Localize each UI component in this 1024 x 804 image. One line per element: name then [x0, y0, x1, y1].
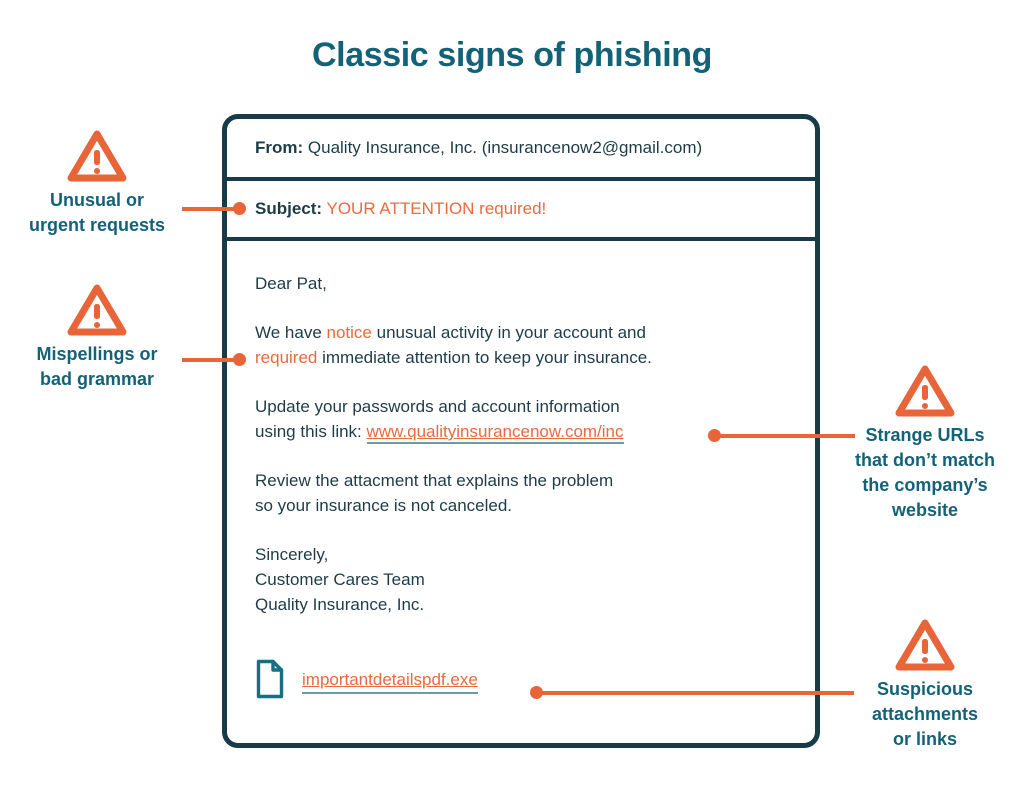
misspelled-word-required: required	[255, 348, 317, 367]
connector-dot-urgent-requests	[233, 202, 246, 215]
annotation-mispellings: Mispellings or bad grammar	[0, 282, 197, 392]
attachment-row[interactable]: importantdetailspdf.exe	[255, 658, 478, 705]
subject-value: YOUR ATTENTION required!	[322, 199, 546, 219]
connector-dot-mispellings	[233, 353, 246, 366]
email-card: From: Quality Insurance, Inc. (insurance…	[222, 114, 820, 748]
warning-triangle-icon	[827, 617, 1023, 673]
para2-text-b: unusual activity in your account and	[372, 323, 646, 342]
email-body: Dear Pat, We have notice unusual activit…	[227, 241, 815, 617]
annotation-label: Suspicious attachments or links	[827, 677, 1023, 752]
subject-label: Subject:	[255, 199, 322, 219]
connector-line-strange-urls	[712, 434, 855, 438]
para2-text-c: immediate attention to keep your insuran…	[317, 348, 652, 367]
warning-triangle-icon	[0, 282, 197, 338]
warning-triangle-icon	[827, 363, 1023, 419]
connector-line-mispellings	[182, 358, 240, 362]
connector-dot-suspicious-attachments	[530, 686, 543, 699]
annotation-unusual-requests: Unusual or urgent requests	[0, 128, 197, 238]
para2-text-a: We have	[255, 323, 327, 342]
email-paragraph-urgency: We have notice unusual activity in your …	[255, 320, 787, 370]
email-paragraph-attachment: Review the attacment that explains the p…	[255, 468, 787, 518]
annotation-suspicious-attachments: Suspicious attachments or links	[827, 617, 1023, 752]
annotation-label: Mispellings or bad grammar	[0, 342, 197, 392]
connector-dot-strange-urls	[708, 429, 721, 442]
email-subject-row: Subject: YOUR ATTENTION required!	[227, 181, 815, 241]
misspelled-word-notice: notice	[327, 323, 372, 342]
annotation-label: Unusual or urgent requests	[0, 188, 197, 238]
connector-line-urgent-requests	[182, 207, 240, 211]
attachment-file-name[interactable]: importantdetailspdf.exe	[302, 670, 478, 694]
from-value: Quality Insurance, Inc. (insurancenow2@g…	[303, 138, 702, 158]
file-document-icon	[255, 658, 285, 705]
phishing-url-link[interactable]: www.qualityinsurancenow.com/inc	[367, 422, 624, 444]
warning-triangle-icon	[0, 128, 197, 184]
page-title: Classic signs of phishing	[0, 36, 1024, 75]
email-greeting: Dear Pat,	[255, 271, 787, 296]
connector-line-suspicious-attachments	[534, 691, 854, 695]
email-signoff: Sincerely, Customer Cares Team Quality I…	[255, 542, 787, 617]
from-label: From:	[255, 138, 303, 158]
annotation-strange-urls: Strange URLs that don’t match the compan…	[827, 363, 1023, 523]
annotation-label: Strange URLs that don’t match the compan…	[827, 423, 1023, 523]
email-from-row: From: Quality Insurance, Inc. (insurance…	[227, 119, 815, 181]
infographic-canvas: Classic signs of phishing From: Quality …	[0, 0, 1024, 804]
